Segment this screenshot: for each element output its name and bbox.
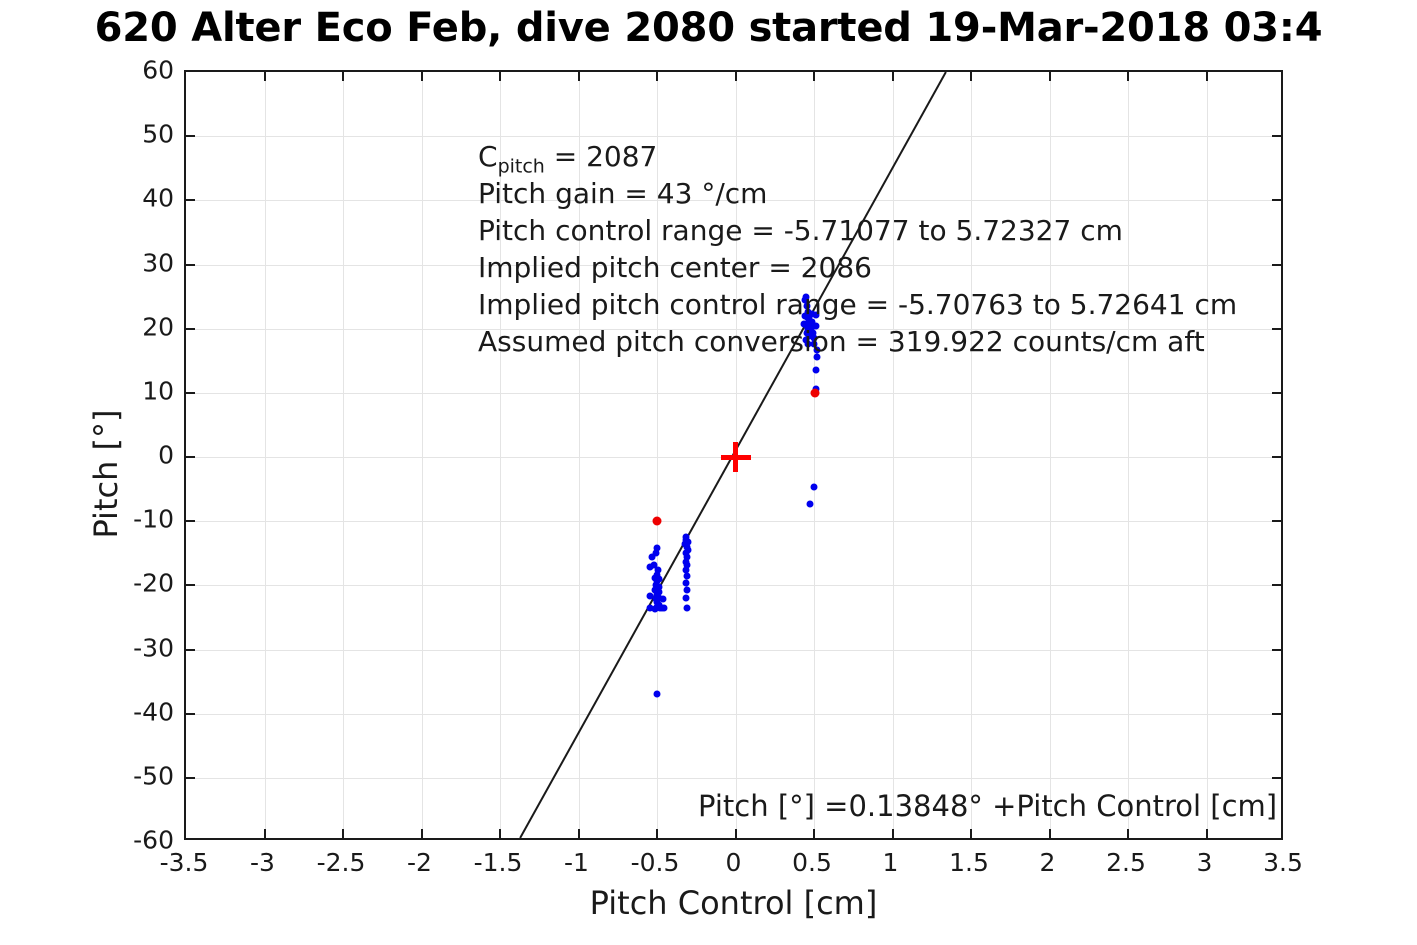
data-point (811, 483, 818, 490)
y-tick-label: 60 (88, 56, 174, 85)
y-tick-label: -40 (88, 697, 174, 726)
data-point (654, 691, 661, 698)
x-tick-label: -3 (250, 848, 275, 877)
annotation-line-pitch-gain: Pitch gain = 43 °/cm (478, 175, 1237, 212)
data-point (683, 595, 690, 602)
x-tick-label: -2 (407, 848, 432, 877)
cpitch-symbol: C (478, 140, 498, 173)
annotation-line-cpitch: Cpitch = 2087 (478, 138, 1237, 175)
x-tick-label: 1.5 (949, 848, 989, 877)
data-point (685, 539, 692, 546)
y-tick-label: -60 (88, 826, 174, 855)
x-tick-label: 3 (1197, 848, 1213, 877)
figure-canvas: 620 Alter Eco Feb, dive 2080 started 19-… (0, 0, 1417, 945)
x-tick-label: -0.5 (631, 848, 680, 877)
x-tick-label: 0 (726, 848, 742, 877)
x-tick-label: 2 (1040, 848, 1056, 877)
data-point (646, 592, 653, 599)
data-point (656, 575, 663, 582)
x-tick-label: -2.5 (317, 848, 366, 877)
y-tick-label: 40 (88, 184, 174, 213)
data-point (685, 547, 692, 554)
x-tick-label: -1 (564, 848, 589, 877)
data-point (683, 586, 690, 593)
data-point (661, 605, 668, 612)
data-point (810, 388, 819, 397)
x-tick-label: 3.5 (1263, 848, 1303, 877)
annotation-line-pitch-conversion: Assumed pitch conversion = 319.922 count… (478, 323, 1237, 360)
data-point (653, 550, 660, 557)
x-tick-label: 2.5 (1106, 848, 1146, 877)
data-point (683, 579, 690, 586)
y-tick-label: 50 (88, 120, 174, 149)
plot-area: Cpitch = 2087 Pitch gain = 43 °/cm Pitch… (184, 70, 1283, 840)
data-point (660, 596, 667, 603)
cpitch-value: = 2087 (545, 140, 658, 173)
annotation-text-block: Cpitch = 2087 Pitch gain = 43 °/cm Pitch… (478, 138, 1237, 360)
fit-equation-label: Pitch [°] =0.13848° +Pitch Control [cm] … (698, 789, 1283, 823)
data-point (812, 366, 819, 373)
annotation-line-implied-center: Implied pitch center = 2086 (478, 249, 1237, 286)
x-tick-label: -1.5 (474, 848, 523, 877)
data-point (683, 605, 690, 612)
x-tick-label: 0.5 (792, 848, 832, 877)
center-cross-marker (721, 442, 751, 472)
data-point (646, 563, 653, 570)
annotation-line-pitch-control-range: Pitch control range = -5.71077 to 5.7232… (478, 212, 1237, 249)
y-axis-label: Pitch [°] (87, 264, 125, 684)
data-point (646, 604, 653, 611)
y-tick-label: -50 (88, 761, 174, 790)
x-axis-label: Pitch Control [cm] (184, 884, 1283, 922)
annotation-line-implied-range: Implied pitch control range = -5.70763 t… (478, 286, 1237, 323)
data-point (653, 517, 662, 526)
data-point (683, 572, 690, 579)
data-point (807, 500, 814, 507)
x-tick-label: 1 (883, 848, 899, 877)
chart-title: 620 Alter Eco Feb, dive 2080 started 19-… (0, 2, 1417, 56)
